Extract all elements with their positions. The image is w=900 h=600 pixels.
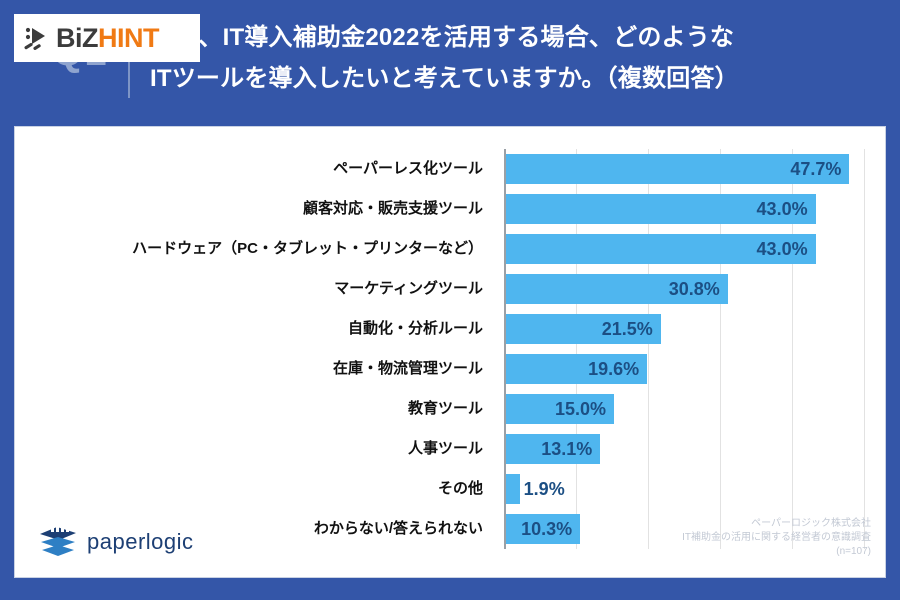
bar-chart: ペーパーレス化ツール47.7%顧客対応・販売支援ツール43.0%ハードウェア（P…: [15, 127, 885, 577]
credit-line-3: (n=107): [682, 545, 871, 559]
question-title-line-1: たは、IT導入補助金2022を活用する場合、どのような: [150, 17, 890, 58]
category-label: 自動化・分析ルール: [23, 309, 483, 349]
question-title-line-2: ITツールを導入したいと考えていますか。（複数回答）: [150, 58, 890, 99]
bar-row: ハードウェア（PC・タブレット・プリンターなど）43.0%: [504, 229, 864, 269]
bar-row: 自動化・分析ルール21.5%: [504, 309, 864, 349]
bar-row: 教育ツール15.0%: [504, 389, 864, 429]
category-label: 教育ツール: [23, 389, 483, 429]
paperlogic-logo[interactable]: paperlogic: [37, 521, 194, 563]
bar-value-label: 43.0%: [506, 234, 808, 264]
credit-line-2: IT補助金の活用に関する経営者の意識調査: [682, 531, 871, 545]
bar-row: 在庫・物流管理ツール19.6%: [504, 349, 864, 389]
bizhint-wordmark-hint: HINT: [98, 23, 159, 53]
bar-value-label: 47.7%: [506, 154, 841, 184]
chart-credit: ペーパーロジック株式会社 IT補助金の活用に関する経営者の意識調査 (n=107…: [682, 517, 871, 559]
bizhint-logo[interactable]: BiZHINT: [14, 14, 200, 62]
bizhint-wordmark: BiZHINT: [56, 23, 159, 53]
bar-value-label: 13.1%: [506, 434, 592, 464]
paperlogic-wordmark: paperlogic: [87, 530, 194, 554]
bar-row: その他1.9%: [504, 469, 864, 509]
paperlogic-layers-icon: [37, 522, 79, 562]
category-label: マーケティングツール: [23, 269, 483, 309]
chart-card: ペーパーレス化ツール47.7%顧客対応・販売支援ツール43.0%ハードウェア（P…: [14, 126, 886, 578]
category-label: 人事ツール: [23, 429, 483, 469]
bar-row: 人事ツール13.1%: [504, 429, 864, 469]
category-label: 在庫・物流管理ツール: [23, 349, 483, 389]
category-label: 顧客対応・販売支援ツール: [23, 189, 483, 229]
bar-value-label: 15.0%: [506, 394, 606, 424]
plot-area: ペーパーレス化ツール47.7%顧客対応・販売支援ツール43.0%ハードウェア（P…: [504, 149, 864, 549]
bar-row: マーケティングツール30.8%: [504, 269, 864, 309]
credit-line-1: ペーパーロジック株式会社: [682, 517, 871, 531]
bar-row: ペーパーレス化ツール47.7%: [504, 149, 864, 189]
bar[interactable]: [506, 474, 520, 504]
bar-value-label: 43.0%: [506, 194, 808, 224]
category-label: ハードウェア（PC・タブレット・プリンターなど）: [23, 229, 483, 269]
slide-root: Q1 たは、IT導入補助金2022を活用する場合、どのような ITツールを導入し…: [0, 0, 900, 600]
bar-value-label: 21.5%: [506, 314, 653, 344]
bar-value-label: 10.3%: [506, 514, 572, 544]
category-label: その他: [23, 469, 483, 509]
bar-value-label: 30.8%: [506, 274, 720, 304]
category-label: ペーパーレス化ツール: [23, 149, 483, 189]
bar-value-label: 19.6%: [506, 354, 639, 384]
bizhint-wordmark-biz: BiZ: [56, 23, 98, 53]
bar-row: 顧客対応・販売支援ツール43.0%: [504, 189, 864, 229]
bar-value-label: 1.9%: [524, 474, 565, 504]
gridline: [864, 149, 865, 549]
bizhint-play-icon: [22, 23, 52, 53]
question-title: たは、IT導入補助金2022を活用する場合、どのような ITツールを導入したいと…: [150, 17, 890, 99]
